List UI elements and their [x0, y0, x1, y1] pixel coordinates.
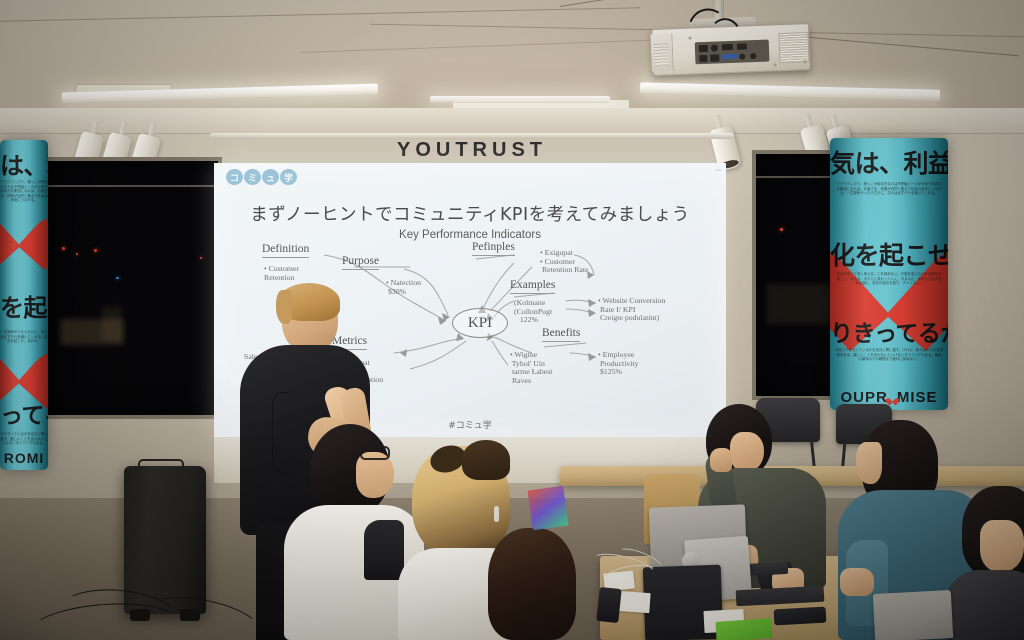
mindmap-node-definition: Definition [262, 243, 309, 258]
mindmap-leaf-benefits-side: • Employee Productivity $125% [598, 351, 639, 377]
mindmap-leaf-pefinples: • Exigupat • Customer Retention Rate [540, 249, 589, 275]
desk-phone[interactable] [774, 607, 827, 626]
heart-icon [888, 395, 897, 403]
right-banner-body-1: ワクワクしたり、根っこが前向きな人は不思議と一人が元気で前向きな集団になれば、お… [830, 182, 948, 226]
colorful-card [527, 486, 568, 531]
window-left [40, 157, 222, 419]
right-banner-body-2: 自分を信じて深く考えることを諦めない。行動を変えたければ変化を起こし、今やる。今… [830, 272, 948, 314]
left-banner-line-1: は、利 [0, 146, 48, 181]
strip-light-center [430, 96, 610, 103]
left-banner-body-3: やりきっているかを自分に問い直す。厳しいことを言わないといけないタイミングもある… [0, 432, 48, 446]
logo-bubble-1: コ [226, 169, 243, 185]
mindmap-leaf-definition: • Customer Retention [264, 265, 299, 282]
mindmap-node-benefits: Benefits [542, 327, 580, 342]
right-banner-footer-text2: MISE [897, 389, 938, 406]
mindmap-node-examples: Examples [510, 279, 555, 294]
left-banner-body-2: 一生懸命やった人だけに、次々は必ずそれを報いてくれる。変化を起こせ、変われ。 [0, 330, 48, 344]
slide-subtitle: Key Performance Indicators [214, 229, 726, 241]
banner-pillar-left: は、利 ワクワクしたり、根っこが前向きな人は不思議と一人が元気で前向きな集団にな… [0, 140, 48, 470]
presentation-room-photo: は、利 ワクワクしたり、根っこが前向きな人は不思議と一人が元気で前向きな集団にな… [0, 0, 1024, 640]
mindmap-node-purpose: Purpose [342, 255, 379, 270]
comyu-logo: コ ミ ュ 学 [226, 169, 297, 185]
mindmap-leaf-examples-side: • Website Conversion Rate I/ KPI Creigte… [598, 297, 665, 323]
banner-pillar-right: 気は、利益 ワクワクしたり、根っこが前向きな人は不思議と一人が元気で前向きな集団… [830, 138, 948, 410]
left-banner-body-1: ワクワクしたり、根っこが前向きな人は不思議と一人が元気で前向きな集団になれば、お… [0, 180, 48, 203]
mindmap-leaf-purpose: • Natection $30% [386, 279, 421, 296]
right-banner-line-1: 気は、利益 [830, 144, 948, 180]
green-snack-pack [715, 618, 772, 640]
mindmap-center-kpi: KPI [452, 308, 508, 338]
laptop-3[interactable] [873, 590, 953, 640]
slide-title: まずノーヒントでコミュニティKPIを考えてみましょう [214, 201, 726, 226]
left-banner-line-3: ってるか [0, 396, 48, 430]
youtrust-brand-header: YOUTRUST [210, 138, 734, 162]
mindmap-leaf-benefits: • Wigine Tyhol' Uin tarme Łabest Raves [510, 351, 552, 386]
logo-bubble-3: ュ [262, 169, 279, 185]
mindmap-node-pefinples: Pefinples [472, 241, 515, 256]
left-banner-footer: ROMI [0, 450, 48, 466]
earring [494, 506, 499, 522]
logo-bubble-2: ミ [244, 169, 261, 185]
right-banner-body-3: 本気でやりきっているかを自分に問い直す。けれど、我々はやりきる覚悟がある。厳しい… [830, 348, 948, 380]
logo-bubble-4: 学 [280, 169, 297, 185]
desk-phone-2[interactable] [596, 587, 621, 623]
glasses-icon [360, 446, 390, 460]
right-banner-line-3: りきってるか? [830, 314, 948, 348]
mindmap-leaf-examples: (Kolmane (CollonPugt 122% [514, 299, 552, 325]
right-banner-line-2: 化を起こせ [830, 236, 948, 272]
left-banner-line-2: を起こ [0, 288, 48, 323]
slide-corner-mark: 16:9 [715, 168, 721, 172]
